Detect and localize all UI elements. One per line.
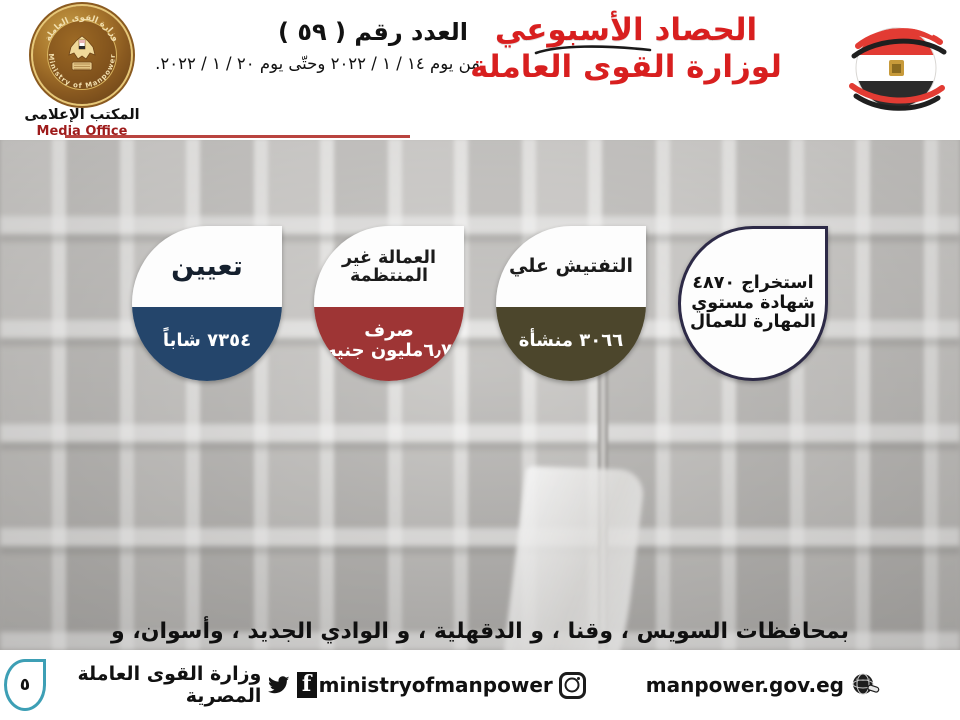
badge-bottom-appointments: ٧٣٥٤ شاباً xyxy=(132,307,282,381)
badge-bottom-inspection: ٣٠٦٦ منشأة xyxy=(496,307,646,381)
badge-title-informal-labour: العمالة غير المنتظمة xyxy=(320,249,458,286)
title-swoosh-icon xyxy=(534,44,654,56)
ministry-seal-icon: وزارة القوى العاملة Ministry of Manpower xyxy=(33,6,131,104)
badge-text-skill-certificates: استخراج ٤٨٧٠ شهادة مستوي المهارة للعمال xyxy=(689,274,817,334)
social-account-name: وزارة القوى العاملة المصرية xyxy=(56,663,261,707)
facebook-icon[interactable] xyxy=(297,672,317,698)
media-office-label-ar: المكتب الإعلامى xyxy=(12,107,152,123)
main-title-block: الحصاد الأسبوعي لوزارة القوى العاملة xyxy=(416,14,836,83)
header-divider xyxy=(65,135,410,138)
badge-body-skill-certificates: استخراج ٤٨٧٠ شهادة مستوي المهارة للعمال xyxy=(681,229,825,378)
footer: ٥ وزارة القوى العاملة المصرية ministryof… xyxy=(0,650,960,720)
infographic-page: وزارة القوى العاملة Ministry of Manpower… xyxy=(0,0,960,720)
badge-bottom-informal-labour: صرف ٦٫٧مليون جنيه xyxy=(314,307,464,381)
stat-badge-inspection: التفتيش علي ٣٠٦٦ منشأة xyxy=(496,226,646,381)
badge-top-inspection: التفتيش علي xyxy=(496,226,646,307)
header: وزارة القوى العاملة Ministry of Manpower… xyxy=(0,0,960,140)
badge-value-inspection: ٣٠٦٦ منشأة xyxy=(519,331,623,350)
badge-value-appointments: ٧٣٥٤ شاباً xyxy=(163,331,251,350)
website-item[interactable]: manpower.gov.eg xyxy=(646,672,880,698)
badge-title-appointments: تعيين xyxy=(171,253,243,281)
badge-top-appointments: تعيين xyxy=(132,226,282,307)
page-number-badge: ٥ xyxy=(4,659,46,711)
svg-text:Ministry of Manpower: Ministry of Manpower xyxy=(47,53,117,90)
website-url: manpower.gov.eg xyxy=(646,673,844,697)
instagram-item[interactable]: ministryofmanpower xyxy=(319,672,586,699)
instagram-handle: ministryofmanpower xyxy=(319,673,553,697)
governorates-caption: بمحافظات السويس ، وقنا ، و الدقهلية ، و … xyxy=(60,616,900,650)
badge-top-informal-labour: العمالة غير المنتظمة xyxy=(314,226,464,307)
ministry-logo-block: وزارة القوى العاملة Ministry of Manpower… xyxy=(12,6,152,136)
badge-value-informal-labour: صرف ٦٫٧مليون جنيه xyxy=(321,321,457,360)
globe-icon[interactable] xyxy=(850,672,880,698)
page-number: ٥ xyxy=(20,675,30,695)
seal-ring-text: وزارة القوى العاملة Ministry of Manpower xyxy=(33,6,131,104)
svg-text:وزارة القوى العاملة: وزارة القوى العاملة xyxy=(43,13,120,43)
instagram-icon[interactable] xyxy=(559,672,586,699)
twitter-icon[interactable] xyxy=(267,672,290,698)
social-accounts-item[interactable]: وزارة القوى العاملة المصرية xyxy=(56,663,317,707)
title-line-1: الحصاد الأسبوعي xyxy=(416,14,836,47)
stat-badge-skill-certificates: استخراج ٤٨٧٠ شهادة مستوي المهارة للعمال xyxy=(678,226,828,381)
background-photo: تعيين ٧٣٥٤ شاباً العمالة غير المنتظمة صر… xyxy=(0,138,960,650)
stat-badge-appointments: تعيين ٧٣٥٤ شاباً xyxy=(132,226,282,381)
badge-title-inspection: التفتيش علي xyxy=(509,257,633,277)
egypt-flag-sphere-icon xyxy=(840,12,952,124)
stat-badge-informal-labour: العمالة غير المنتظمة صرف ٦٫٧مليون جنيه xyxy=(314,226,464,381)
stat-badges: تعيين ٧٣٥٤ شاباً العمالة غير المنتظمة صر… xyxy=(0,226,960,406)
